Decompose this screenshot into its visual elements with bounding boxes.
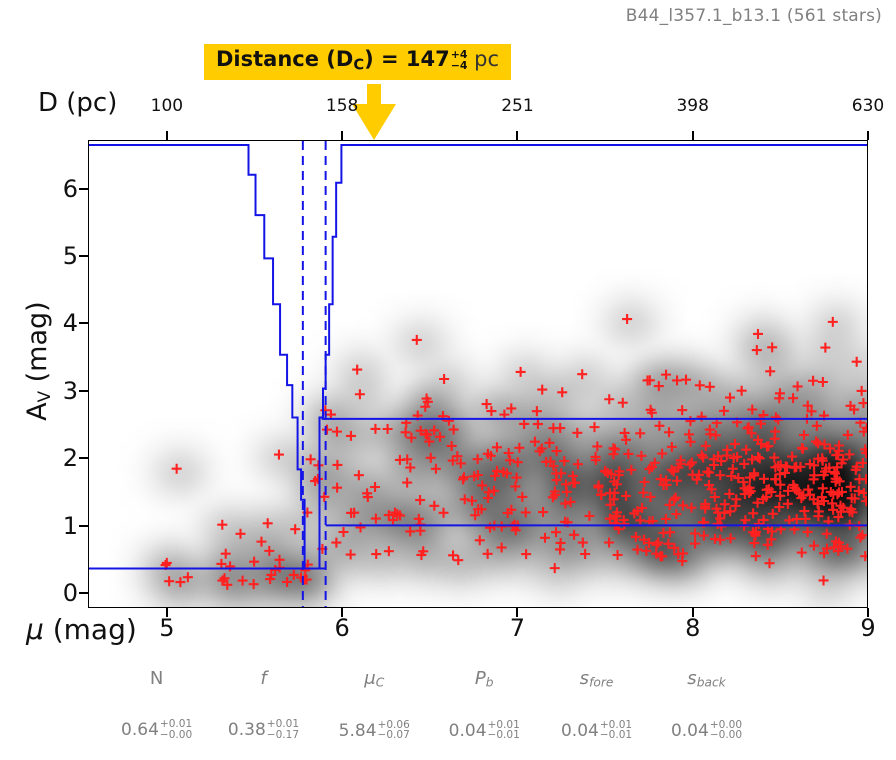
stat-column-4: Pb0.04+0.01−0.01 [424, 668, 544, 741]
y-tick-6: 6 [63, 175, 78, 203]
y-tick-3: 3 [63, 377, 78, 405]
parameter-summary-table: N0.64+0.01−0.00f0.38+0.01−0.17μC5.84+0.0… [88, 668, 868, 760]
tickmark-left [79, 457, 88, 459]
stat-column-6: sback0.04+0.00−0.00 [647, 668, 767, 741]
stat-value: 0.04+0.01−0.01 [537, 720, 657, 742]
x-tick-5: 5 [159, 614, 174, 642]
stat-header: N [97, 668, 217, 689]
stat-column-1: N0.64+0.01−0.00 [97, 668, 217, 741]
tickmark-left [79, 322, 88, 324]
tickmark-left [79, 592, 88, 594]
top-tick-100: 100 [151, 96, 183, 116]
plot-area [88, 140, 868, 608]
stat-column-2: f0.38+0.01−0.17 [204, 668, 324, 741]
distance-callout: Distance (DC) = 147+4−4 pc [204, 44, 511, 80]
y-tick-2: 2 [63, 444, 78, 472]
stat-value: 0.04+0.00−0.00 [647, 720, 767, 742]
stat-value: 5.84+0.06−0.07 [314, 720, 434, 742]
y-axis-title: AV (mag) [22, 271, 54, 451]
tickmark-top [516, 131, 518, 140]
x-tick-6: 6 [335, 614, 350, 642]
x-tick-9: 9 [860, 614, 875, 642]
tickmark-top [341, 131, 343, 140]
tickmark-top [867, 131, 869, 140]
y-tick-0: 0 [63, 579, 78, 607]
stat-column-3: μC5.84+0.06−0.07 [314, 668, 434, 741]
x-tick-8: 8 [685, 614, 700, 642]
y-tick-5: 5 [63, 242, 78, 270]
stat-header: sfore [537, 668, 657, 690]
tickmark-top [692, 131, 694, 140]
tickmark-left [79, 188, 88, 190]
stat-header: f [204, 668, 324, 689]
tickmark-left [79, 390, 88, 392]
tickmark-top [166, 131, 168, 140]
y-tick-4: 4 [63, 309, 78, 337]
stat-value: 0.04+0.01−0.01 [424, 720, 544, 742]
top-tick-158: 158 [326, 96, 358, 116]
top-tick-630: 630 [852, 96, 884, 116]
model-overlay-layer [89, 141, 868, 608]
stat-header: μC [314, 668, 434, 690]
page-title: B44_l357.1_b13.1 (561 stars) [626, 6, 882, 26]
top-tick-251: 251 [501, 96, 533, 116]
posterior-step-curve [89, 145, 868, 568]
stat-header: Pb [424, 668, 544, 690]
callout-arrow-icon [352, 104, 396, 140]
stat-value: 0.38+0.01−0.17 [204, 719, 324, 741]
stat-column-5: sfore0.04+0.01−0.01 [537, 668, 657, 741]
stat-value: 0.64+0.01−0.00 [97, 719, 217, 741]
x-tick-7: 7 [510, 614, 525, 642]
distance-callout-label: Distance (DC) = 147+4−4 pc [216, 49, 499, 73]
tickmark-left [79, 525, 88, 527]
top-tick-398: 398 [676, 96, 708, 116]
tickmark-left [79, 255, 88, 257]
bottom-axis-title: μ (mag) [26, 613, 137, 646]
y-tick-1: 1 [63, 512, 78, 540]
stat-header: sback [647, 668, 767, 690]
